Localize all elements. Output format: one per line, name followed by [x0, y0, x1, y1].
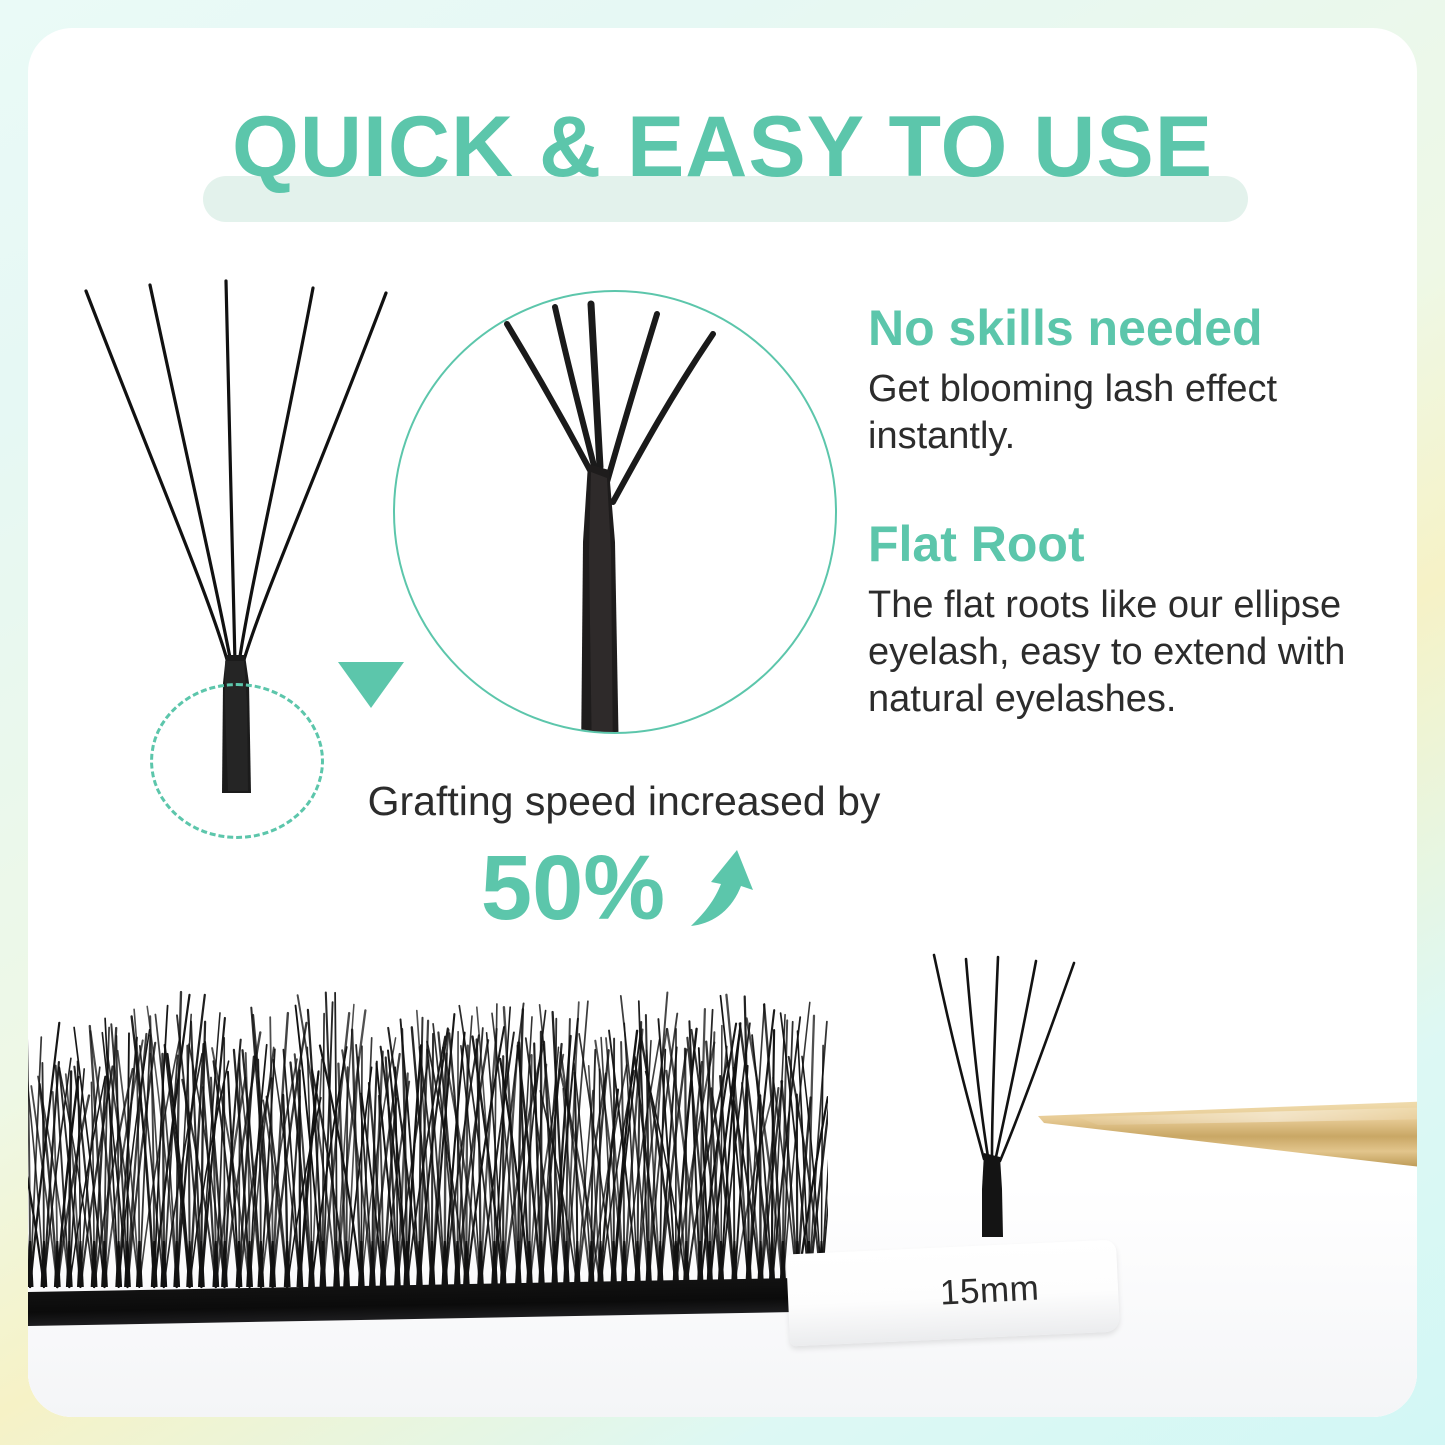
- magnified-lash-root-graphic: [395, 292, 835, 734]
- flat-root-highlight-circle: [150, 683, 324, 839]
- feature-body: The flat roots like our ellipse eyelash,…: [868, 582, 1388, 723]
- feature-body: Get blooming lash effect instantly.: [868, 366, 1388, 460]
- gold-tweezer: [1038, 1099, 1417, 1175]
- single-lash-fan: [908, 949, 1138, 1239]
- lash-strip-fans: [28, 969, 828, 1299]
- size-label: 15mm: [939, 1268, 1040, 1313]
- feature-item: No skills needed Get blooming lash effec…: [868, 298, 1388, 460]
- infographic-page: QUICK & EASY TO USE: [0, 0, 1445, 1445]
- feature-list: No skills needed Get blooming lash effec…: [868, 298, 1388, 777]
- page-title-block: QUICK & EASY TO USE: [28, 88, 1417, 218]
- magnified-flat-root-view: [393, 290, 837, 734]
- white-content-card: QUICK & EASY TO USE: [28, 28, 1417, 1417]
- grafting-speed-value: 50%: [481, 838, 665, 938]
- grafting-speed-callout: 50%: [344, 838, 904, 938]
- grafting-speed-label: Grafting speed increased by: [344, 778, 904, 825]
- product-photo: 15mm: [28, 947, 1417, 1417]
- page-title: QUICK & EASY TO USE: [28, 88, 1417, 206]
- feature-item: Flat Root The flat roots like our ellips…: [868, 514, 1388, 723]
- feature-heading: Flat Root: [868, 514, 1388, 574]
- feature-heading: No skills needed: [868, 298, 1388, 358]
- up-trend-arrow-icon: [671, 840, 767, 936]
